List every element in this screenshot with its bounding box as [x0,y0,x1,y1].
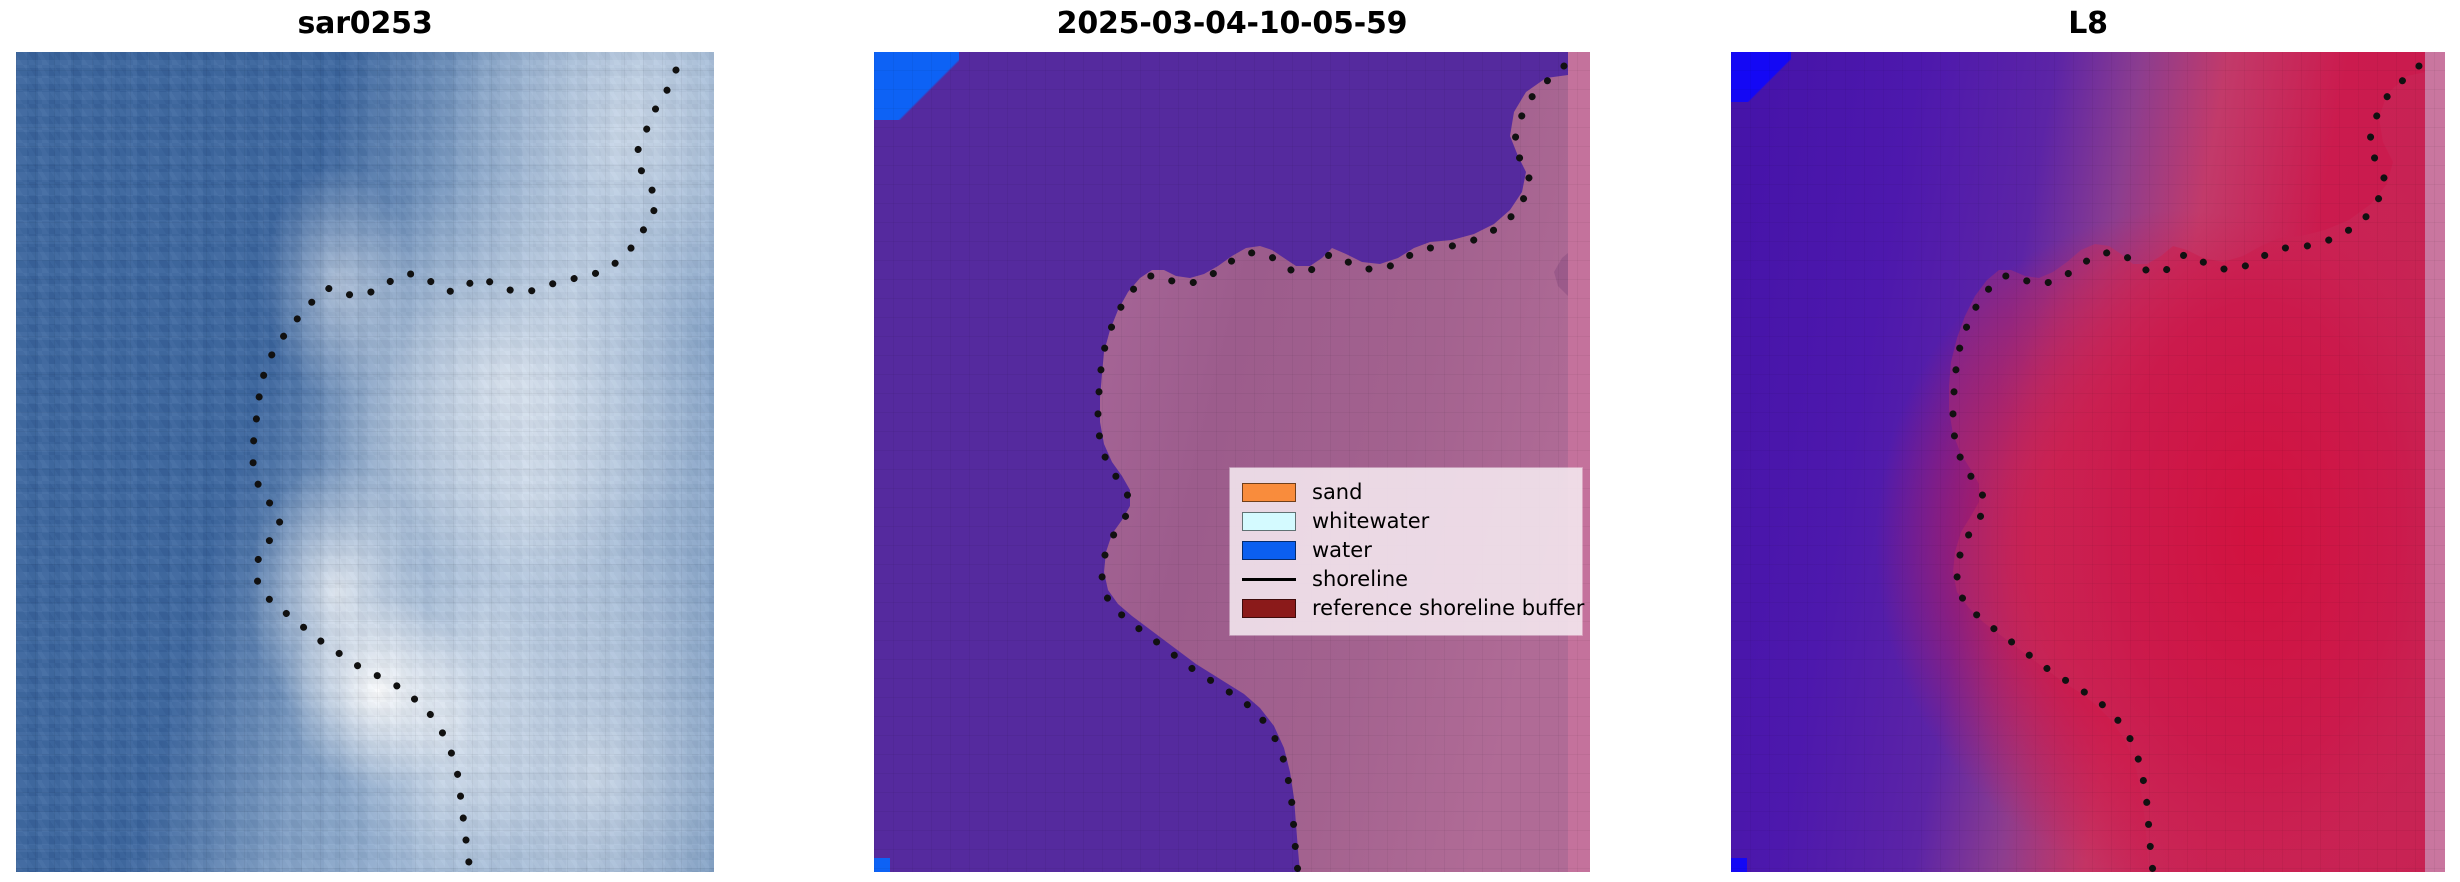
legend-swatch-reference-shoreline-buffer [1242,599,1296,618]
axes-classified: sand whitewater water shoreline referenc… [874,52,1590,872]
shoreline-overlay-l8 [1731,52,2445,872]
legend-item-whitewater: whitewater [1242,507,1570,536]
legend-label-water: water [1312,540,1372,561]
legend-swatch-water [1242,541,1296,560]
panel-title-sar: sar0253 [16,4,714,44]
shoreline-overlay-sar [16,52,714,872]
legend-item-water: water [1242,536,1570,565]
legend-label-sand: sand [1312,482,1362,503]
axes-sar [16,52,714,872]
legend-label-reference-shoreline-buffer: reference shoreline buffer [1312,598,1584,619]
panel-classified: 2025-03-04-10-05-59 [874,0,1590,882]
figure-canvas: sar0253 2025-03-04-10-05-59 [0,0,2460,882]
axes-l8 [1731,52,2445,872]
legend-label-shoreline: shoreline [1312,569,1408,590]
legend-label-whitewater: whitewater [1312,511,1429,532]
legend-box: sand whitewater water shoreline referenc… [1230,468,1582,635]
panel-sar: sar0253 [16,0,714,882]
legend-item-sand: sand [1242,478,1570,507]
legend-item-shoreline: shoreline [1242,565,1570,594]
panel-title-l8: L8 [1731,4,2445,44]
shoreline-overlay-classified [874,52,1590,872]
panel-l8: L8 [1731,0,2445,882]
legend-item-reference-shoreline-buffer: reference shoreline buffer [1242,594,1570,623]
legend-swatch-sand [1242,483,1296,502]
panel-title-classified: 2025-03-04-10-05-59 [874,4,1590,44]
legend-swatch-whitewater [1242,512,1296,531]
legend-swatch-shoreline [1242,570,1296,589]
